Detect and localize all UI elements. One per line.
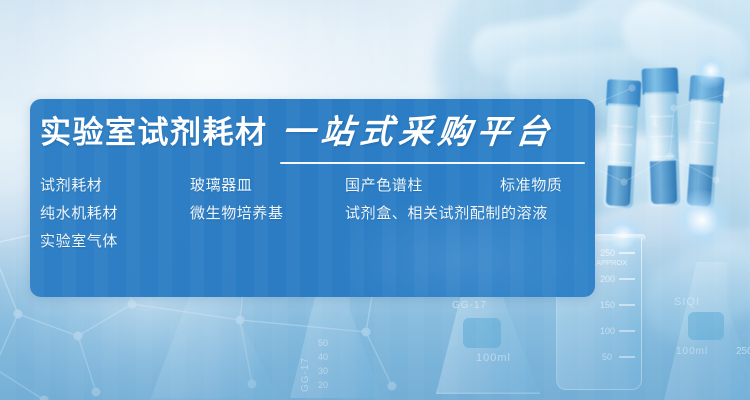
category-item-domestic-chromatography-columns[interactable]: 国产色谱柱 [345,177,500,195]
page-title: 实验室试剂耗材 [40,117,268,148]
page-subtitle-brush: 一站式采购平台 [280,115,556,148]
category-item-laboratory-gases[interactable]: 实验室气体 [40,233,190,251]
category-grid: 试剂耗材 玻璃器皿 国产色谱柱 标准物质 纯水机耗材 微生物培养基 试剂盒、相关… [40,177,587,251]
headline-panel: 实验室试剂耗材 一站式采购平台 试剂耗材 玻璃器皿 国产色谱柱 标准物质 纯水机… [30,99,595,297]
category-item-water-purifier-consumables[interactable]: 纯水机耗材 [40,205,190,223]
headline-title-row: 实验室试剂耗材 一站式采购平台 [40,115,595,148]
promo-banner: 5ml 2ml 1ml [0,0,750,400]
category-item-reagent-consumables[interactable]: 试剂耗材 [40,177,190,195]
category-item-reagent-kits-and-solutions[interactable]: 试剂盒、相关试剂配制的溶液 [345,205,587,223]
title-underline-rule [280,162,585,164]
category-item-microbial-culture-media[interactable]: 微生物培养基 [190,205,345,223]
category-item-reference-materials[interactable]: 标准物质 [500,177,587,195]
category-item-glassware[interactable]: 玻璃器皿 [190,177,345,195]
